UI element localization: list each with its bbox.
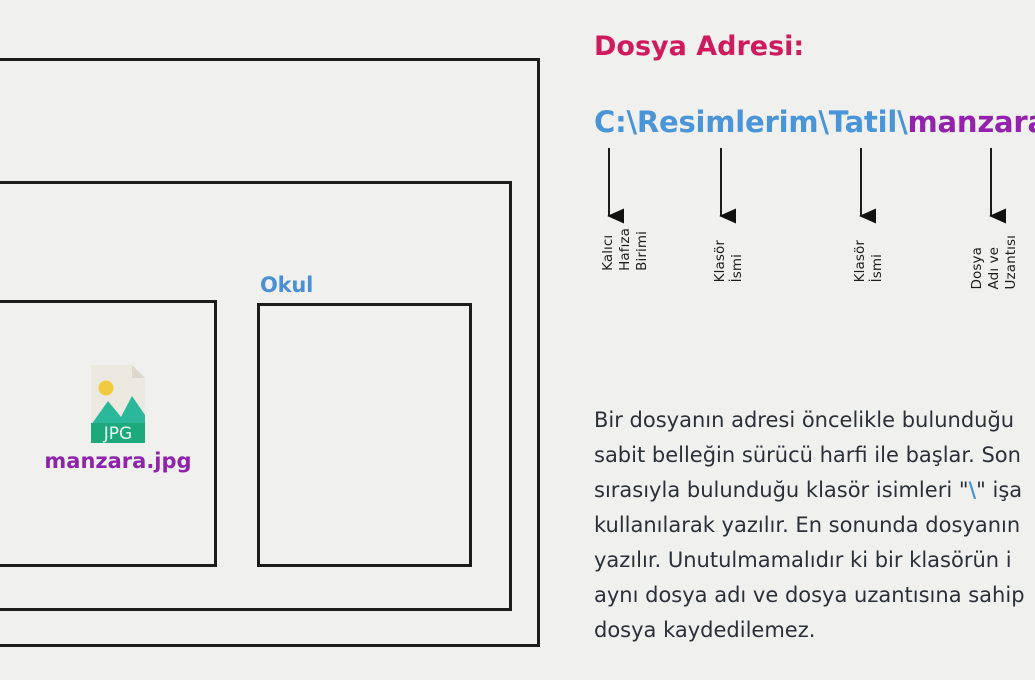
slide-canvas: Resimlerim Tatil Okul JPG <box>0 0 1035 680</box>
folder-box-okul <box>257 303 472 567</box>
callout-label-folder-name-1: Klasör İsmi <box>712 240 746 282</box>
callout-label-folder-name-2: Klasör İsmi <box>852 240 886 282</box>
paragraph-text: sırasıyla bulunduğu klasör isimleri " <box>594 478 969 502</box>
svg-text:JPG: JPG <box>103 424 132 444</box>
paragraph-line: dosya kaydedilemez. <box>594 613 1035 648</box>
path-file-part: manzara.jpg <box>908 105 1035 139</box>
paragraph-line: sabit belleğin sürücü harfi ile başlar. … <box>594 438 1035 473</box>
file-path-display: C:\Resimlerim\Tatil\manzara.jpg <box>594 105 1035 139</box>
jpg-image-file-icon: JPG <box>85 363 151 445</box>
paragraph-text: aynı dosya adı ve dosya uzantısına sahip <box>594 583 1025 607</box>
paragraph-text: yazılır. Unutulmamalıdır ki bir klasörün… <box>594 548 1012 572</box>
page-title: Dosya Adresi: <box>594 31 804 62</box>
paragraph-line: sırasıyla bulunduğu klasör isimleri "\" … <box>594 473 1035 508</box>
folder-hierarchy-diagram: Resimlerim Tatil Okul JPG <box>0 58 540 647</box>
callout-label-file-name-extension: Dosya Adı ve Uzantısı <box>969 235 1020 289</box>
file-name-label: manzara.jpg <box>38 449 198 473</box>
paragraph-text: kullanılarak yazılır. En sonunda dosyanı… <box>594 513 1020 537</box>
callout-label-storage-unit: Kalıcı Hafıza Birimi <box>600 228 651 271</box>
paragraph-text: Bir dosyanın adresi öncelikle bulunduğu <box>594 408 1014 432</box>
paragraph-text: dosya kaydedilemez. <box>594 618 815 642</box>
paragraph-line: Bir dosyanın adresi öncelikle bulunduğu <box>594 403 1035 438</box>
paragraph-line: yazılır. Unutulmamalıdır ki bir klasörün… <box>594 543 1035 578</box>
callout-arrows <box>594 148 1035 233</box>
paragraph-text: " işa <box>976 478 1022 502</box>
explanation-paragraph: Bir dosyanın adresi öncelikle bulunduğu … <box>594 403 1035 648</box>
file-item-manzara[interactable]: JPG manzara.jpg <box>38 363 198 473</box>
folder-label-resimlerim: Resimlerim <box>0 152 1 176</box>
paragraph-line: kullanılarak yazılır. En sonunda dosyanı… <box>594 508 1035 543</box>
paragraph-line: aynı dosya adı ve dosya uzantısına sahip <box>594 578 1035 613</box>
folder-label-okul: Okul <box>260 273 313 297</box>
paragraph-text: sabit belleğin sürücü harfi ile başlar. … <box>594 443 1021 467</box>
path-directory-part: C:\Resimlerim\Tatil\ <box>594 105 908 139</box>
